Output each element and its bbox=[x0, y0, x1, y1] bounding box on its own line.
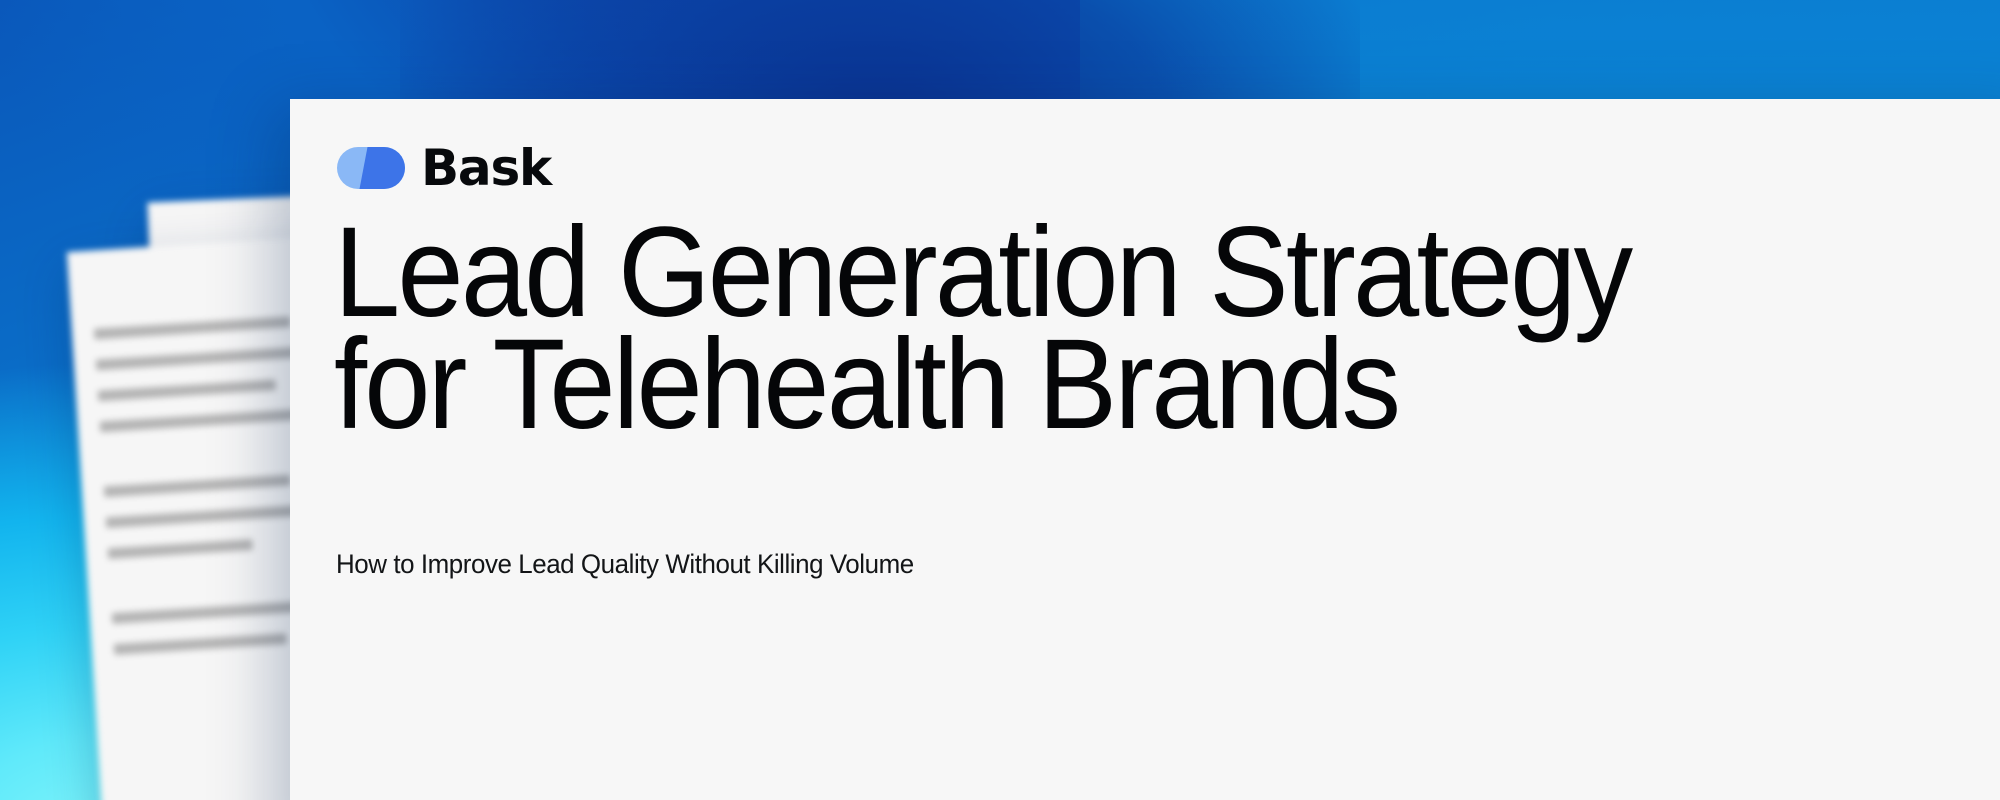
page-title: Lead Generation Strategy for Telehealth … bbox=[334, 217, 1785, 441]
cover-slide: Bask Lead Generation Strategy for Telehe… bbox=[0, 0, 2000, 800]
brand-lockup: Bask bbox=[337, 143, 551, 193]
bask-capsule-logo-icon bbox=[337, 147, 405, 189]
brand-wordmark: Bask bbox=[421, 143, 551, 193]
cover-card: Bask Lead Generation Strategy for Telehe… bbox=[290, 99, 2000, 800]
page-subtitle: How to Improve Lead Quality Without Kill… bbox=[336, 549, 914, 580]
